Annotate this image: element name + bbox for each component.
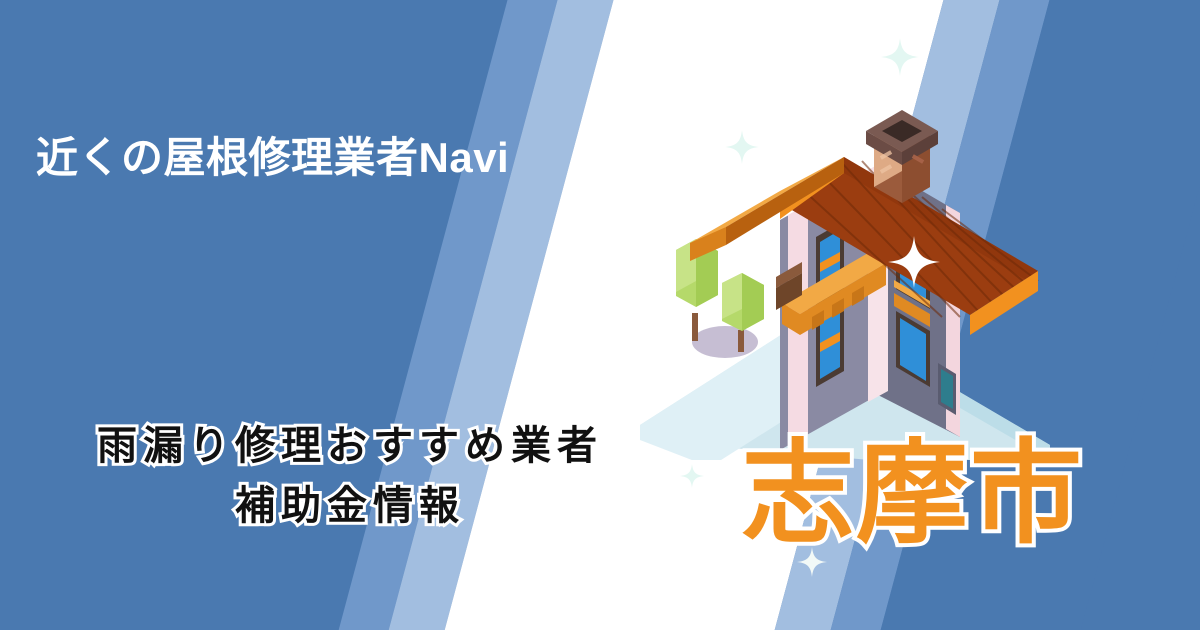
city-name: 志摩市	[742, 432, 1084, 555]
headline-line-2: 補助金情報	[0, 476, 700, 536]
headline-line-1: 雨漏り修理おすすめ業者	[0, 416, 700, 476]
site-title: 近くの屋根修理業者Navi	[36, 133, 509, 183]
house-illustration	[630, 95, 1060, 460]
headline: 雨漏り修理おすすめ業者 補助金情報	[0, 416, 700, 536]
ogp-banner: 近くの屋根修理業者Navi 雨漏り修理おすすめ業者 補助金情報 志摩市	[0, 0, 1200, 630]
trees	[676, 239, 764, 358]
